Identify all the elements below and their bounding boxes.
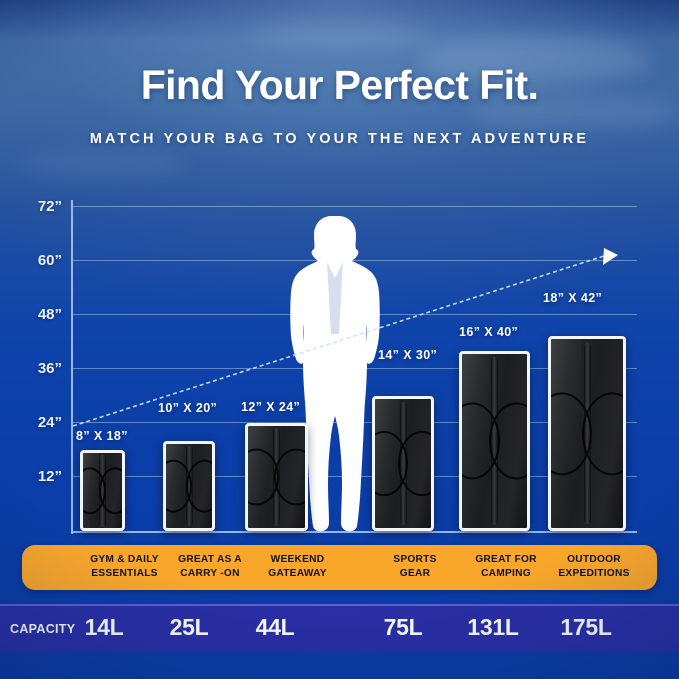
capacity-bar: CAPACITY 14L 25L 44L 75L 131L 175L bbox=[0, 604, 679, 655]
bag-lens-right bbox=[99, 467, 125, 515]
gridline-72 bbox=[71, 206, 637, 207]
category-line-6b: EXPEDITIONS bbox=[534, 567, 654, 581]
capacity-row-label: CAPACITY bbox=[10, 622, 75, 636]
capacity-value-2: 25L bbox=[158, 614, 220, 641]
capacity-value-3: 44L bbox=[244, 614, 306, 641]
bag-bar-4[interactable] bbox=[372, 396, 434, 531]
bag-size-label-4: 14” X 30” bbox=[378, 348, 437, 362]
bag-size-label-5: 16” X 40” bbox=[459, 325, 518, 339]
y-tick-label-72: 72” bbox=[10, 198, 62, 215]
category-label-6: OUTDOOR EXPEDITIONS bbox=[534, 553, 654, 580]
y-axis bbox=[71, 200, 73, 534]
y-tick-label-24: 24” bbox=[10, 414, 62, 431]
capacity-value-5: 131L bbox=[455, 614, 531, 641]
category-line-3a: WEEKEND bbox=[235, 553, 360, 567]
y-tick-label-36: 36” bbox=[10, 360, 62, 377]
bag-size-label-2: 10” X 20” bbox=[158, 401, 217, 415]
bag-size-label-1: 8” X 18” bbox=[76, 429, 128, 443]
bag-bar-3[interactable] bbox=[245, 423, 308, 531]
y-tick-label-48: 48” bbox=[10, 306, 62, 323]
bag-bar-5[interactable] bbox=[459, 351, 530, 531]
bag-lens-right bbox=[186, 460, 215, 513]
footer-strip bbox=[0, 651, 679, 679]
y-tick-label-12: 12” bbox=[10, 468, 62, 485]
category-line-6a: OUTDOOR bbox=[534, 553, 654, 567]
category-line-3b: GATEAWAY bbox=[235, 567, 360, 581]
bag-bar-2[interactable] bbox=[163, 441, 215, 531]
bag-size-label-6: 18” X 42” bbox=[543, 291, 602, 305]
infographic-canvas: Find Your Perfect Fit. MATCH YOUR BAG TO… bbox=[0, 0, 679, 679]
category-label-3: WEEKEND GATEAWAY bbox=[235, 553, 360, 580]
bag-bar-1[interactable] bbox=[80, 450, 125, 531]
capacity-value-4: 75L bbox=[372, 614, 434, 641]
capacity-value-6: 175L bbox=[548, 614, 624, 641]
bag-size-label-3: 12” X 24” bbox=[241, 400, 300, 414]
y-tick-label-60: 60” bbox=[10, 252, 62, 269]
capacity-value-1: 14L bbox=[73, 614, 135, 641]
category-pill-bar: GYM & DAILY ESSENTIALS GREAT AS A CARRY … bbox=[22, 545, 657, 590]
bag-bar-6[interactable] bbox=[548, 336, 626, 531]
